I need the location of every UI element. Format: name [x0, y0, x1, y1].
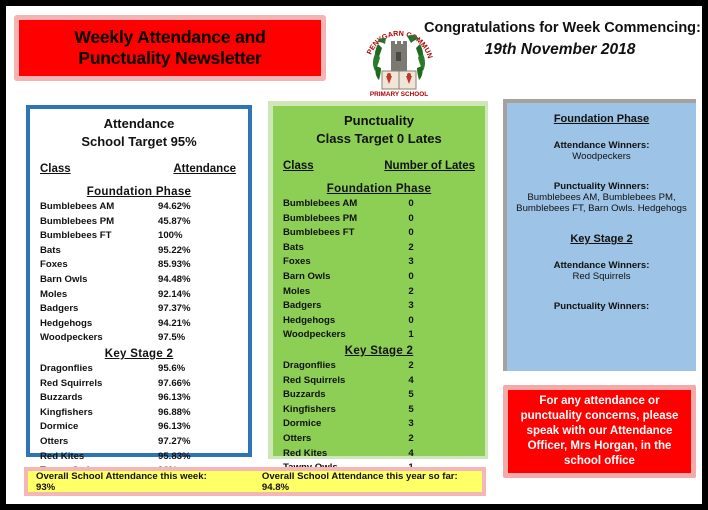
row-value: 2 [393, 432, 429, 447]
row-value: 96.88% [158, 406, 191, 421]
row-value: 1 [393, 328, 429, 343]
table-row: Bumblebees PM0 [273, 212, 485, 227]
punctuality-heading: Punctuality [273, 112, 485, 130]
table-row: Moles2 [273, 285, 485, 300]
table-row: Dragonflies2 [273, 359, 485, 374]
title-line-1: Weekly Attendance and [74, 27, 265, 48]
row-class-name: Bumblebees PM [283, 212, 393, 227]
punctuality-column-headers: Class Number of Lates [273, 147, 485, 172]
table-row: Barn Owls94.48% [30, 273, 248, 288]
row-value: 96.13% [158, 391, 191, 406]
table-row: Red Squirrels4 [273, 374, 485, 389]
row-value: 94.21% [158, 317, 191, 332]
row-value: 4 [393, 447, 429, 462]
row-value: 3 [393, 299, 429, 314]
row-value: 97.66% [158, 377, 191, 392]
table-row: Woodpeckers1 [273, 328, 485, 343]
table-row: Otters2 [273, 432, 485, 447]
row-class-name: Red Squirrels [40, 377, 158, 392]
punctuality-target: Class Target 0 Lates [273, 130, 485, 148]
attendance-section-ks2: Key Stage 2 [30, 346, 248, 362]
row-value: 5 [393, 403, 429, 418]
attendance-notice: For any attendance or punctuality concer… [508, 390, 691, 473]
row-value: 92.14% [158, 288, 191, 303]
row-class-name: Kingfishers [283, 403, 393, 418]
newsletter-title: Weekly Attendance and Punctuality Newsle… [19, 20, 321, 76]
row-value: 2 [393, 241, 429, 256]
row-class-name: Badgers [40, 302, 158, 317]
row-class-name: Red Squirrels [283, 374, 393, 389]
row-class-name: Bumblebees AM [40, 200, 158, 215]
row-value: 0 [393, 212, 429, 227]
row-value: 97.5% [158, 331, 185, 346]
table-row: Foxes85.93% [30, 258, 248, 273]
table-row: Otters97.27% [30, 435, 248, 450]
row-class-name: Dormice [283, 417, 393, 432]
winners-fp-punctuality-value-1: Bumblebees AM, Bumblebees PM, [507, 192, 696, 203]
row-value: 0 [393, 226, 429, 241]
table-row: Bats2 [273, 241, 485, 256]
table-row: Red Kites4 [273, 447, 485, 462]
row-class-name: Bumblebees PM [40, 215, 158, 230]
row-value: 97.37% [158, 302, 191, 317]
table-row: Hedgehogs0 [273, 314, 485, 329]
punctuality-section-foundation: Foundation Phase [273, 172, 485, 197]
punctuality-col-value: Number of Lates [384, 160, 475, 172]
row-class-name: Badgers [283, 299, 393, 314]
attendance-section-foundation: Foundation Phase [30, 175, 248, 200]
attendance-col-class: Class [40, 163, 71, 175]
newsletter-page: Weekly Attendance and Punctuality Newsle… [0, 0, 708, 510]
table-row: Barn Owls0 [273, 270, 485, 285]
attendance-panel: Attendance School Target 95% Class Atten… [26, 105, 252, 457]
table-row: Woodpeckers97.5% [30, 331, 248, 346]
winners-fp-heading: Foundation Phase [507, 113, 696, 125]
table-row: Foxes3 [273, 255, 485, 270]
row-value: 96.13% [158, 420, 191, 435]
row-class-name: Woodpeckers [283, 328, 393, 343]
table-row: Dormice96.13% [30, 420, 248, 435]
punctuality-section-ks2: Key Stage 2 [273, 343, 485, 359]
table-row: Kingfishers5 [273, 403, 485, 418]
table-row: Moles92.14% [30, 288, 248, 303]
row-value: 4 [393, 374, 429, 389]
row-value: 95.22% [158, 244, 191, 259]
row-class-name: Otters [40, 435, 158, 450]
punctuality-panel-header: Punctuality Class Target 0 Lates [273, 106, 485, 147]
row-value: 5 [393, 388, 429, 403]
week-commencing-date: 19th November 2018 [424, 41, 696, 59]
punctuality-col-class: Class [283, 160, 314, 172]
row-value: 97.27% [158, 435, 191, 450]
row-class-name: Otters [283, 432, 393, 447]
newsletter-canvas: Weekly Attendance and Punctuality Newsle… [6, 6, 702, 504]
row-value: 2 [393, 359, 429, 374]
row-value: 3 [393, 417, 429, 432]
attendance-panel-header: Attendance School Target 95% [30, 109, 248, 150]
row-value: 100% [158, 229, 183, 244]
row-value: 0 [393, 197, 429, 212]
table-row: Buzzards96.13% [30, 391, 248, 406]
row-class-name: Dormice [40, 420, 158, 435]
table-row: Hedgehogs94.21% [30, 317, 248, 332]
attendance-fp-rows: Bumblebees AM94.62%Bumblebees PM45.87%Bu… [30, 200, 248, 346]
table-row: Bumblebees AM0 [273, 197, 485, 212]
row-class-name: Barn Owls [283, 270, 393, 285]
attendance-heading: Attendance [30, 115, 248, 133]
table-row: Kingfishers96.88% [30, 406, 248, 421]
row-value: 2 [393, 285, 429, 300]
row-class-name: Bumblebees AM [283, 197, 393, 212]
punctuality-panel: Punctuality Class Target 0 Lates Class N… [273, 106, 485, 456]
attendance-col-value: Attendance [173, 163, 236, 175]
table-row: Buzzards5 [273, 388, 485, 403]
attendance-column-headers: Class Attendance [30, 150, 248, 175]
row-class-name: Foxes [283, 255, 393, 270]
winners-fp-punctuality-label: Punctuality Winners: [507, 181, 696, 192]
row-value: 94.48% [158, 273, 191, 288]
row-class-name: Hedgehogs [40, 317, 158, 332]
row-class-name: Red Kites [40, 450, 158, 465]
row-value: 45.87% [158, 215, 191, 230]
congratulations-block: Congratulations for Week Commencing: 19t… [424, 20, 696, 59]
overall-attendance-footer: Overall School Attendance this week: 93%… [28, 471, 482, 492]
attendance-ks2-rows: Dragonflies95.6%Red Squirrels97.66%Buzza… [30, 362, 248, 479]
row-class-name: Bumblebees FT [40, 229, 158, 244]
row-class-name: Dragonflies [40, 362, 158, 377]
row-value: 3 [393, 255, 429, 270]
winners-ks2-heading: Key Stage 2 [507, 233, 696, 245]
row-class-name: Buzzards [283, 388, 393, 403]
winners-ks2-punctuality-label: Punctuality Winners: [507, 301, 696, 312]
row-class-name: Bats [283, 241, 393, 256]
row-class-name: Moles [40, 288, 158, 303]
attendance-target: School Target 95% [30, 133, 248, 151]
row-class-name: Buzzards [40, 391, 158, 406]
table-row: Red Squirrels97.66% [30, 377, 248, 392]
row-class-name: Bumblebees FT [283, 226, 393, 241]
svg-text:PRIMARY SCHOOL: PRIMARY SCHOOL [370, 91, 428, 98]
table-row: Badgers3 [273, 299, 485, 314]
row-value: 85.93% [158, 258, 191, 273]
overall-attendance-year: Overall School Attendance this year so f… [262, 471, 482, 493]
table-row: Bumblebees FT0 [273, 226, 485, 241]
row-value: 0 [393, 270, 429, 285]
table-row: Badgers97.37% [30, 302, 248, 317]
row-class-name: Bats [40, 244, 158, 259]
table-row: Bumblebees AM94.62% [30, 200, 248, 215]
winners-ks2-attendance-label: Attendance Winners: [507, 260, 696, 271]
row-class-name: Kingfishers [40, 406, 158, 421]
title-line-2: Punctuality Newsletter [78, 48, 261, 69]
punctuality-ks2-rows: Dragonflies2Red Squirrels4Buzzards5Kingf… [273, 359, 485, 476]
row-class-name: Woodpeckers [40, 331, 158, 346]
notice-text: For any attendance or punctuality concer… [516, 394, 683, 470]
row-class-name: Foxes [40, 258, 158, 273]
row-class-name: Hedgehogs [283, 314, 393, 329]
table-row: Dragonflies95.6% [30, 362, 248, 377]
table-row: Red Kites95.83% [30, 450, 248, 465]
row-value: 95.6% [158, 362, 185, 377]
congratulations-text: Congratulations for Week Commencing: [424, 20, 696, 36]
winners-fp-punctuality-value-2: Bumblebees FT, Barn Owls. Hedgehogs [507, 203, 696, 214]
row-class-name: Red Kites [283, 447, 393, 462]
row-class-name: Dragonflies [283, 359, 393, 374]
winners-panel: Foundation Phase Attendance Winners: Woo… [507, 103, 696, 371]
row-value: 94.62% [158, 200, 191, 215]
row-value: 0 [393, 314, 429, 329]
overall-attendance-week: Overall School Attendance this week: 93% [36, 471, 224, 493]
table-row: Bumblebees PM45.87% [30, 215, 248, 230]
row-class-name: Barn Owls [40, 273, 158, 288]
row-class-name: Moles [283, 285, 393, 300]
table-row: Bats95.22% [30, 244, 248, 259]
table-row: Dormice3 [273, 417, 485, 432]
row-value: 95.83% [158, 450, 191, 465]
table-row: Bumblebees FT100% [30, 229, 248, 244]
winners-fp-attendance-label: Attendance Winners: [507, 140, 696, 151]
winners-fp-attendance-value: Woodpeckers [507, 151, 696, 162]
winners-ks2-attendance-value: Red Squirrels [507, 271, 696, 282]
punctuality-fp-rows: Bumblebees AM0Bumblebees PM0Bumblebees F… [273, 197, 485, 343]
